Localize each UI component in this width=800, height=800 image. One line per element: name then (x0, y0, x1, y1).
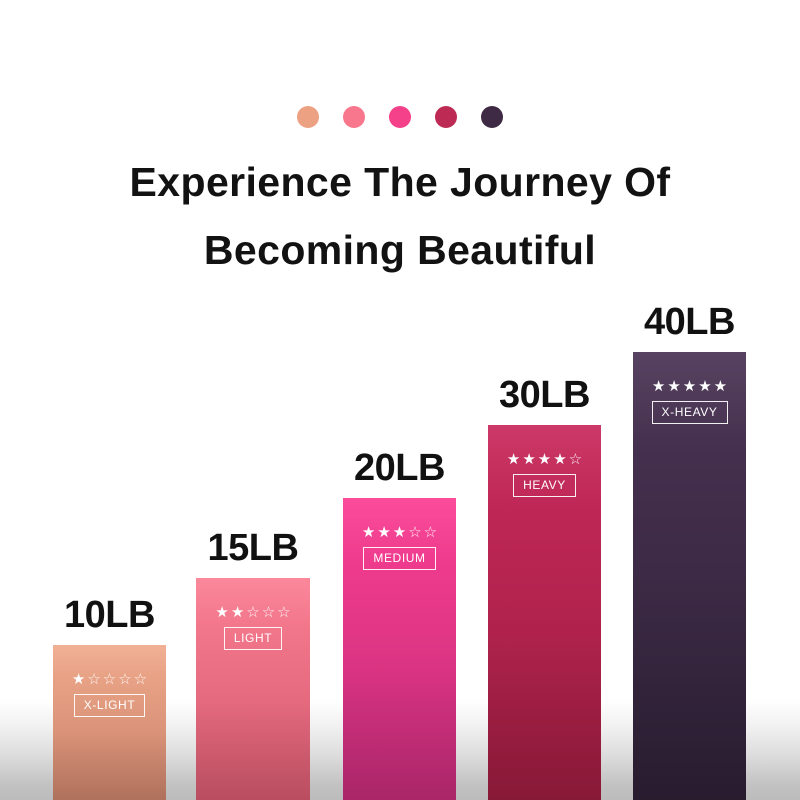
star-rating-x-heavy: ★★★★★ (652, 379, 727, 394)
star-filled-icon: ★ (362, 525, 375, 540)
weight-label-15lb: 15LB (196, 527, 310, 570)
badge-light: ★★☆☆☆LIGHT (196, 605, 310, 650)
star-filled-icon: ★ (652, 379, 665, 394)
star-filled-icon: ★ (72, 672, 85, 687)
star-filled-icon: ★ (683, 379, 696, 394)
star-empty-icon: ☆ (103, 672, 116, 687)
level-label-x-heavy: X-HEAVY (652, 401, 728, 424)
star-filled-icon: ★ (522, 452, 535, 467)
star-rating-light: ★★☆☆☆ (215, 605, 290, 620)
star-empty-icon: ☆ (408, 525, 421, 540)
star-filled-icon: ★ (215, 605, 228, 620)
level-label-heavy: HEAVY (513, 474, 576, 497)
level-label-x-light: X-LIGHT (74, 694, 146, 717)
star-filled-icon: ★ (377, 525, 390, 540)
star-empty-icon: ☆ (262, 605, 275, 620)
bar-group-medium[interactable]: 20LB★★★☆☆MEDIUM (343, 498, 456, 800)
star-empty-icon: ☆ (246, 605, 259, 620)
bar-group-light[interactable]: 15LB★★☆☆☆LIGHT (196, 578, 310, 800)
star-filled-icon: ★ (507, 452, 520, 467)
weight-label-40lb: 40LB (633, 301, 746, 344)
star-filled-icon: ★ (538, 452, 551, 467)
level-label-medium: MEDIUM (363, 547, 435, 570)
badge-heavy: ★★★★☆HEAVY (488, 452, 601, 497)
star-filled-icon: ★ (231, 605, 244, 620)
star-empty-icon: ☆ (569, 452, 582, 467)
resistance-bar-chart: 10LB★☆☆☆☆X-LIGHT15LB★★☆☆☆LIGHT20LB★★★☆☆M… (0, 0, 800, 800)
badge-medium: ★★★☆☆MEDIUM (343, 525, 456, 570)
star-empty-icon: ☆ (277, 605, 290, 620)
star-rating-heavy: ★★★★☆ (507, 452, 582, 467)
star-filled-icon: ★ (667, 379, 680, 394)
star-empty-icon: ☆ (87, 672, 100, 687)
bar-group-x-light[interactable]: 10LB★☆☆☆☆X-LIGHT (53, 645, 166, 800)
star-rating-medium: ★★★☆☆ (362, 525, 437, 540)
level-label-light: LIGHT (224, 627, 282, 650)
star-filled-icon: ★ (393, 525, 406, 540)
weight-label-20lb: 20LB (343, 447, 456, 490)
star-filled-icon: ★ (553, 452, 566, 467)
bar-group-heavy[interactable]: 30LB★★★★☆HEAVY (488, 425, 601, 800)
badge-x-heavy: ★★★★★X-HEAVY (633, 379, 746, 424)
bar-x-light[interactable] (53, 645, 166, 800)
star-empty-icon: ☆ (118, 672, 131, 687)
star-filled-icon: ★ (714, 379, 727, 394)
poster-canvas: Experience The Journey Of Becoming Beaut… (0, 0, 800, 800)
star-empty-icon: ☆ (424, 525, 437, 540)
weight-label-10lb: 10LB (53, 594, 166, 637)
star-empty-icon: ☆ (134, 672, 147, 687)
badge-x-light: ★☆☆☆☆X-LIGHT (53, 672, 166, 717)
star-filled-icon: ★ (698, 379, 711, 394)
star-rating-x-light: ★☆☆☆☆ (72, 672, 147, 687)
weight-label-30lb: 30LB (488, 374, 601, 417)
bar-group-x-heavy[interactable]: 40LB★★★★★X-HEAVY (633, 352, 746, 800)
